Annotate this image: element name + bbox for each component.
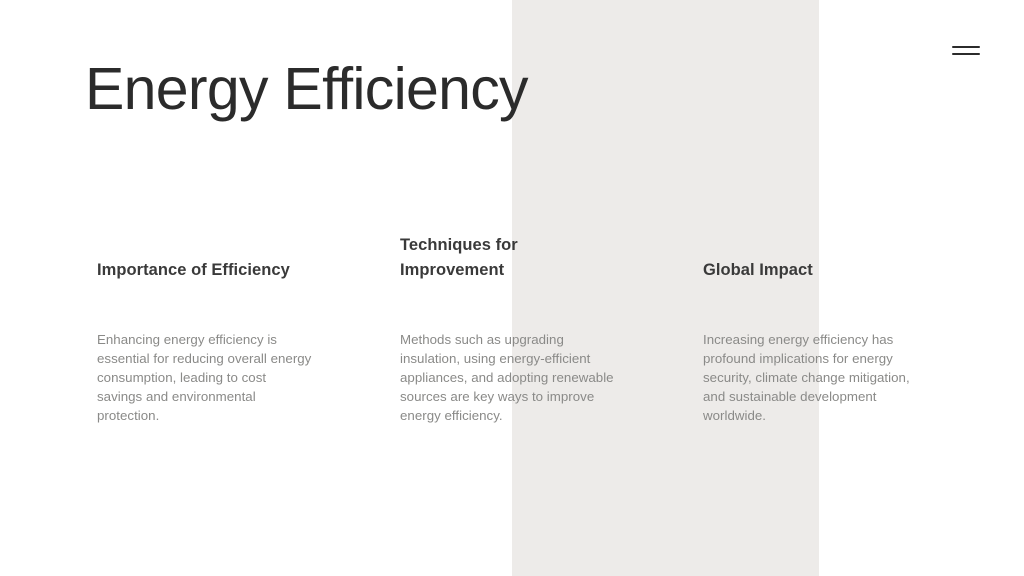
column-heading-importance-of-efficiency: Importance of Efficiency [97,258,290,284]
content-column-3: Global Impact Increasing energy efficien… [703,228,921,425]
column-heading-box: Techniques for Improvement [400,228,618,284]
column-body-importance-of-efficiency: Enhancing energy efficiency is essential… [97,331,315,425]
content-column-1: Importance of Efficiency Enhancing energ… [97,228,315,425]
column-heading-global-impact: Global Impact [703,258,813,284]
slide-canvas: Energy Efficiency Importance of Efficien… [0,0,1024,576]
column-heading-box: Importance of Efficiency [97,228,315,284]
page-title: Energy Efficiency [85,58,528,121]
column-body-techniques-for-improvement: Methods such as upgrading insulation, us… [400,331,618,425]
column-heading-techniques-for-improvement: Techniques for Improvement [400,233,618,284]
hamburger-menu-icon[interactable] [952,40,980,58]
hamburger-bar-bottom [952,53,980,55]
column-heading-box: Global Impact [703,228,921,284]
hamburger-bar-top [952,46,980,48]
content-columns: Importance of Efficiency Enhancing energ… [97,228,957,425]
content-column-2: Techniques for Improvement Methods such … [400,228,618,425]
column-body-global-impact: Increasing energy efficiency has profoun… [703,331,921,425]
